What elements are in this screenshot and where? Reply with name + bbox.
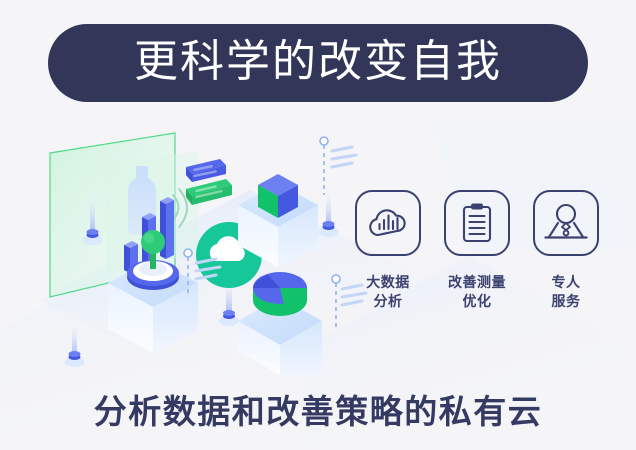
feature-label-line1: 改善测量 xyxy=(448,273,506,292)
feature-label-big-data: 大数据 分析 xyxy=(366,273,410,311)
feature-label-service: 专人 服务 xyxy=(552,273,581,311)
feature-label-line2: 服务 xyxy=(552,292,581,311)
feature-label-measurement: 改善测量 优化 xyxy=(448,273,506,311)
tagline-text: 分析数据和改善策略的私有云 xyxy=(0,385,636,433)
feature-item-big-data[interactable]: 大数据 分析 xyxy=(352,190,424,311)
feature-label-line2: 优化 xyxy=(448,292,506,311)
feature-label-line1: 大数据 xyxy=(366,273,410,292)
pedestal-pie-chart xyxy=(238,272,322,375)
service-person-icon xyxy=(533,190,599,256)
feature-item-measurement[interactable]: 改善测量 优化 xyxy=(441,190,513,311)
clipboard-icon xyxy=(444,190,510,256)
pin-marker-right xyxy=(319,185,339,237)
headline-banner: 更科学的改变自我 xyxy=(48,24,588,102)
headline-text: 更科学的改变自我 xyxy=(134,40,502,84)
feature-label-line2: 分析 xyxy=(366,292,410,311)
poster-canvas: 更科学的改变自我 大数据 分析 xyxy=(0,0,636,450)
cloud-bar-chart-icon xyxy=(355,190,421,256)
feature-item-service[interactable]: 专人 服务 xyxy=(530,190,602,311)
feature-list: 大数据 分析 改善测量 优化 xyxy=(352,190,602,335)
feature-label-line1: 专人 xyxy=(552,273,581,292)
illustration-isometric-scene xyxy=(40,125,370,375)
pin-marker-bottom-left xyxy=(65,317,85,367)
